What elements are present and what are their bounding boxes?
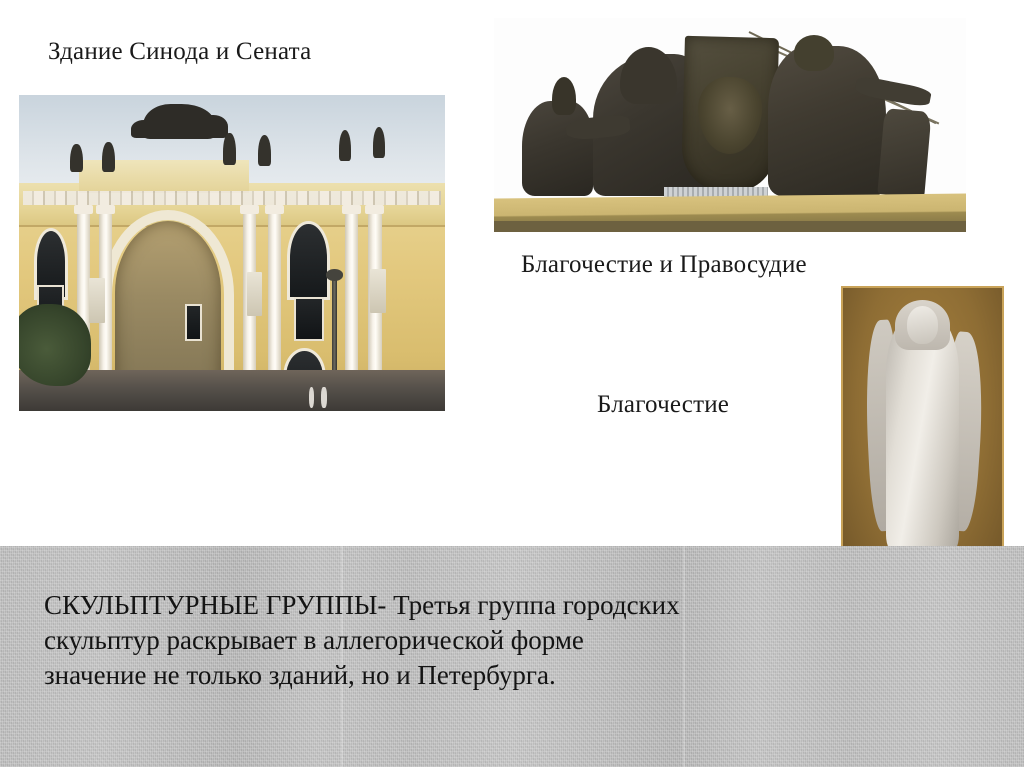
head-icon — [794, 35, 834, 71]
photo-piety-statue — [841, 286, 1004, 583]
body-line: СКУЛЬПТУРНЫЕ ГРУППЫ- Третья группа город… — [44, 588, 904, 623]
page-title: Здание Синода и Сената — [48, 38, 311, 66]
column-icon — [345, 212, 358, 376]
column-icon — [268, 212, 281, 376]
wall-relief — [89, 278, 104, 322]
head-icon — [907, 306, 939, 344]
imperial-shield-icon — [681, 36, 779, 192]
justice-figure-icon — [768, 46, 886, 196]
caption-piety-and-justice: Благочестие и Правосудие — [521, 251, 807, 279]
roof-statue-icon — [70, 144, 83, 172]
body-paragraph: СКУЛЬПТУРНЫЕ ГРУППЫ- Третья группа город… — [44, 588, 904, 693]
window — [294, 297, 324, 341]
hood-icon — [620, 47, 676, 103]
double-headed-eagle-icon — [697, 76, 763, 155]
cornice-edge — [494, 221, 966, 232]
slide-canvas: Здание Синода и Сената Благочестие и Пра… — [0, 0, 1024, 767]
law-tablet-icon — [877, 108, 931, 197]
pedestrian-icon — [309, 387, 315, 408]
body-line: скульптур раскрывает в аллегорической фо… — [44, 623, 904, 658]
roof-sculpture-group-icon — [143, 104, 215, 139]
body-line: значение не только зданий, но и Петербур… — [44, 658, 904, 693]
wall-relief — [247, 272, 262, 316]
photo-senate-synod-building — [19, 95, 445, 411]
window — [185, 304, 202, 342]
tree-icon — [19, 304, 91, 386]
arched-window — [287, 221, 330, 300]
wall-relief — [370, 269, 385, 313]
roof-statue-icon — [223, 133, 236, 165]
roof-statue-icon — [102, 142, 115, 172]
caption-piety: Благочестие — [597, 391, 729, 419]
pedestrian-icon — [321, 387, 327, 408]
torch-figure-icon — [522, 101, 593, 195]
photo-piety-and-justice-group — [494, 18, 966, 232]
building-frieze — [23, 191, 440, 204]
